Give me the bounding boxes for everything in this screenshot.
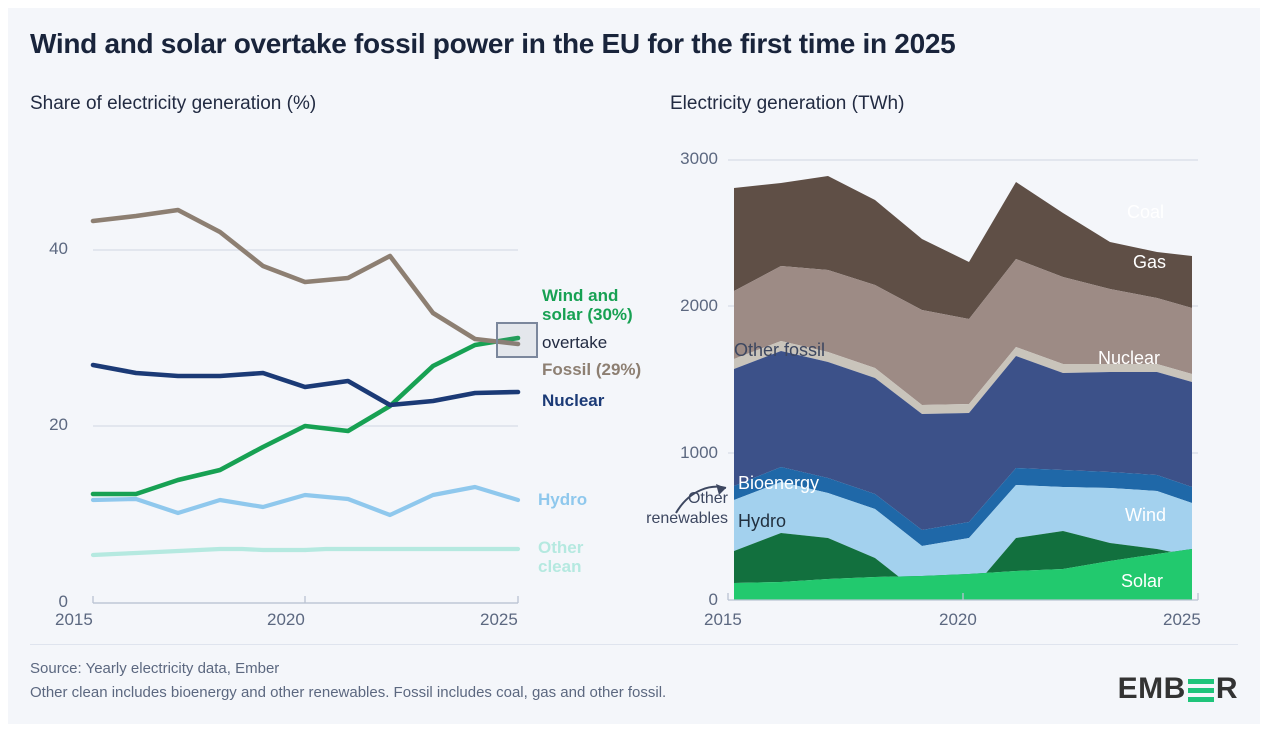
right-ytick-1000: 1000 xyxy=(658,443,718,463)
left-ytick-0: 0 xyxy=(24,592,68,612)
stacked-areas xyxy=(734,176,1192,600)
area-label-nuclear: Nuclear xyxy=(1098,348,1160,369)
left-ytick-40: 40 xyxy=(24,239,68,259)
ember-logo-e-bars xyxy=(1188,679,1214,702)
right-chart-subtitle: Electricity generation (TWh) xyxy=(670,93,904,115)
label-wind-and-solar: Wind and solar (30%) xyxy=(542,286,633,325)
line-wind-solar xyxy=(93,338,518,494)
footnote-text: Other clean includes bioenergy and other… xyxy=(30,684,666,701)
other-renewables-line1: Other xyxy=(688,490,728,507)
label-other-clean: Other clean xyxy=(538,538,583,577)
label-fossil: Fossil (29%) xyxy=(542,360,641,379)
page-title: Wind and solar overtake fossil power in … xyxy=(30,28,955,60)
left-xtick-2020: 2020 xyxy=(267,610,305,630)
area-label-coal: Coal xyxy=(1127,202,1164,223)
line-other-clean xyxy=(93,549,305,555)
ember-logo: EMB R xyxy=(1118,672,1238,706)
ember-logo-text-a: EMB xyxy=(1118,672,1186,706)
area-label-other-fossil: Other fossil xyxy=(734,340,825,361)
right-ytick-0: 0 xyxy=(658,590,718,610)
area-label-hydro: Hydro xyxy=(738,511,786,532)
chart-canvas: Wind and solar overtake fossil power in … xyxy=(8,8,1260,724)
source-text: Source: Yearly electricity data, Ember xyxy=(30,660,279,677)
right-xtick-2025: 2025 xyxy=(1163,610,1201,630)
line-hydro xyxy=(93,487,518,515)
area-label-gas: Gas xyxy=(1133,252,1166,273)
label-other-clean-line1: Other xyxy=(538,538,583,557)
right-xtick-2020: 2020 xyxy=(939,610,977,630)
left-xtick-2015: 2015 xyxy=(55,610,93,630)
label-wind-and-solar-line1: Wind and xyxy=(542,286,618,305)
other-renewables-annotation: Other renewables xyxy=(578,489,728,529)
right-xtick-2015: 2015 xyxy=(704,610,742,630)
left-xtick-2025: 2025 xyxy=(480,610,518,630)
line-nuclear xyxy=(93,365,518,405)
other-renewables-line2: renewables xyxy=(646,510,728,527)
line-fossil xyxy=(93,210,518,344)
ember-logo-text-b: R xyxy=(1216,672,1238,706)
line-other-clean-2 xyxy=(305,549,518,550)
left-line-chart xyxy=(18,128,578,628)
overtake-highlight-box xyxy=(496,322,538,358)
label-wind-and-solar-line2: solar (30%) xyxy=(542,305,633,324)
left-ytick-20: 20 xyxy=(24,415,68,435)
left-chart-subtitle: Share of electricity generation (%) xyxy=(30,93,316,115)
right-ytick-2000: 2000 xyxy=(658,296,718,316)
label-overtake: overtake xyxy=(542,333,607,352)
right-ytick-3000: 3000 xyxy=(658,149,718,169)
area-label-wind: Wind xyxy=(1125,505,1166,526)
label-other-clean-line2: clean xyxy=(538,557,581,576)
label-nuclear: Nuclear xyxy=(542,391,604,410)
footer-divider xyxy=(30,644,1238,645)
area-label-bioenergy: Bioenergy xyxy=(738,473,819,494)
area-label-solar: Solar xyxy=(1121,571,1163,592)
x-axis xyxy=(93,596,518,603)
